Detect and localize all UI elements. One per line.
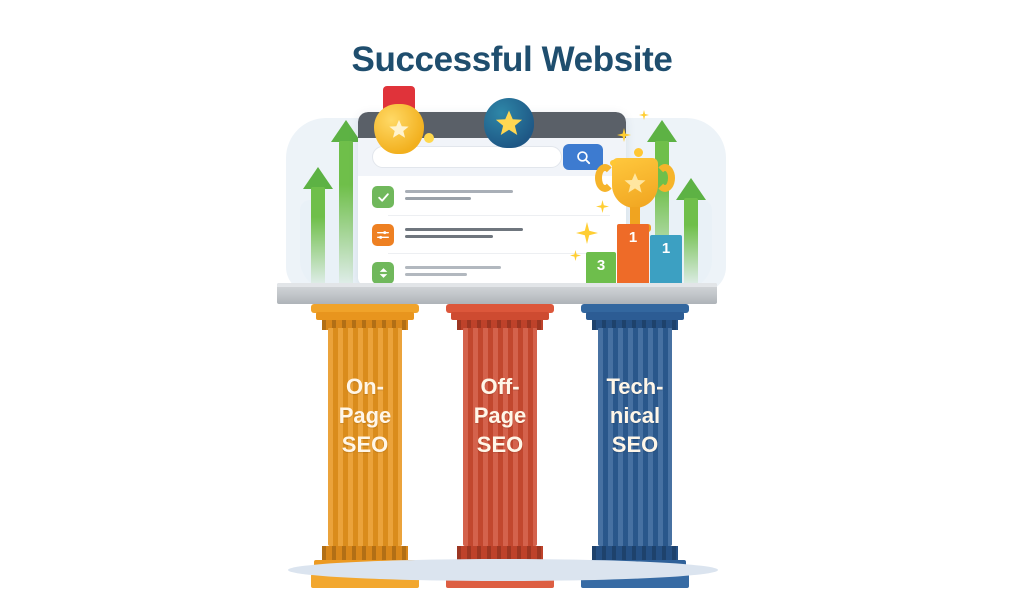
pillar-shaft: On- Page SEO — [328, 328, 402, 546]
sliders-glyph — [376, 228, 390, 242]
podium-block-1: 1 — [617, 224, 649, 290]
podium-block-2: 1 — [650, 235, 682, 290]
pillar-label-line-1: On- — [346, 372, 384, 401]
medal-disc — [374, 104, 424, 154]
pillar-base-ridges — [457, 546, 543, 560]
pillar-label-line-2: Page — [339, 401, 392, 430]
pillar-shaft: Off- Page SEO — [463, 328, 537, 546]
pillar-label-line-2: nical — [610, 401, 660, 430]
list-item[interactable] — [358, 180, 626, 214]
pillar-capital-mid — [451, 312, 549, 320]
trophy-handle-right — [655, 164, 675, 192]
star-glyph — [388, 118, 410, 140]
ground-shadow — [288, 559, 718, 581]
arrow-shaft — [339, 141, 353, 288]
arrow-head-icon — [676, 178, 706, 200]
infographic-canvas: Successful Website — [0, 0, 1024, 613]
pillar-shaft: Tech- nical SEO — [598, 328, 672, 546]
badge-star-icon — [484, 98, 534, 148]
pillar-label-line-1: Off- — [480, 372, 519, 401]
arrow-head-icon — [331, 120, 361, 142]
sort-arrows-glyph — [377, 266, 390, 280]
pillar-label-line-3: SEO — [612, 430, 658, 459]
sort-arrows-icon — [372, 262, 394, 284]
pillar-capital-mid — [316, 312, 414, 320]
check-glyph — [377, 191, 390, 204]
pillar-label-line-3: SEO — [342, 430, 388, 459]
pillar-base-ridges — [322, 546, 408, 560]
sparkle-dot-icon — [610, 160, 616, 166]
page-title: Successful Website — [0, 40, 1024, 80]
podium: 3 1 1 — [586, 218, 688, 290]
medal-star-icon — [369, 86, 429, 158]
star-glyph — [623, 171, 647, 195]
pillar-label-line-3: SEO — [477, 430, 523, 459]
sparkle-dot-icon — [634, 148, 643, 157]
pillar-label-line-1: Tech- — [606, 372, 663, 401]
medal-accent-dot — [424, 133, 434, 143]
entablature-slab-highlight — [277, 283, 717, 287]
search-icon — [575, 149, 592, 166]
trophy-cup — [612, 158, 658, 208]
pillar-capital-mid — [586, 312, 684, 320]
check-icon — [372, 186, 394, 208]
arrow-head-icon — [647, 120, 677, 142]
arrow-shaft — [311, 187, 325, 287]
sliders-icon — [372, 224, 394, 246]
star-glyph — [494, 108, 524, 138]
pillar-base-ridges — [592, 546, 678, 560]
pillar-label-line-2: Page — [474, 401, 527, 430]
